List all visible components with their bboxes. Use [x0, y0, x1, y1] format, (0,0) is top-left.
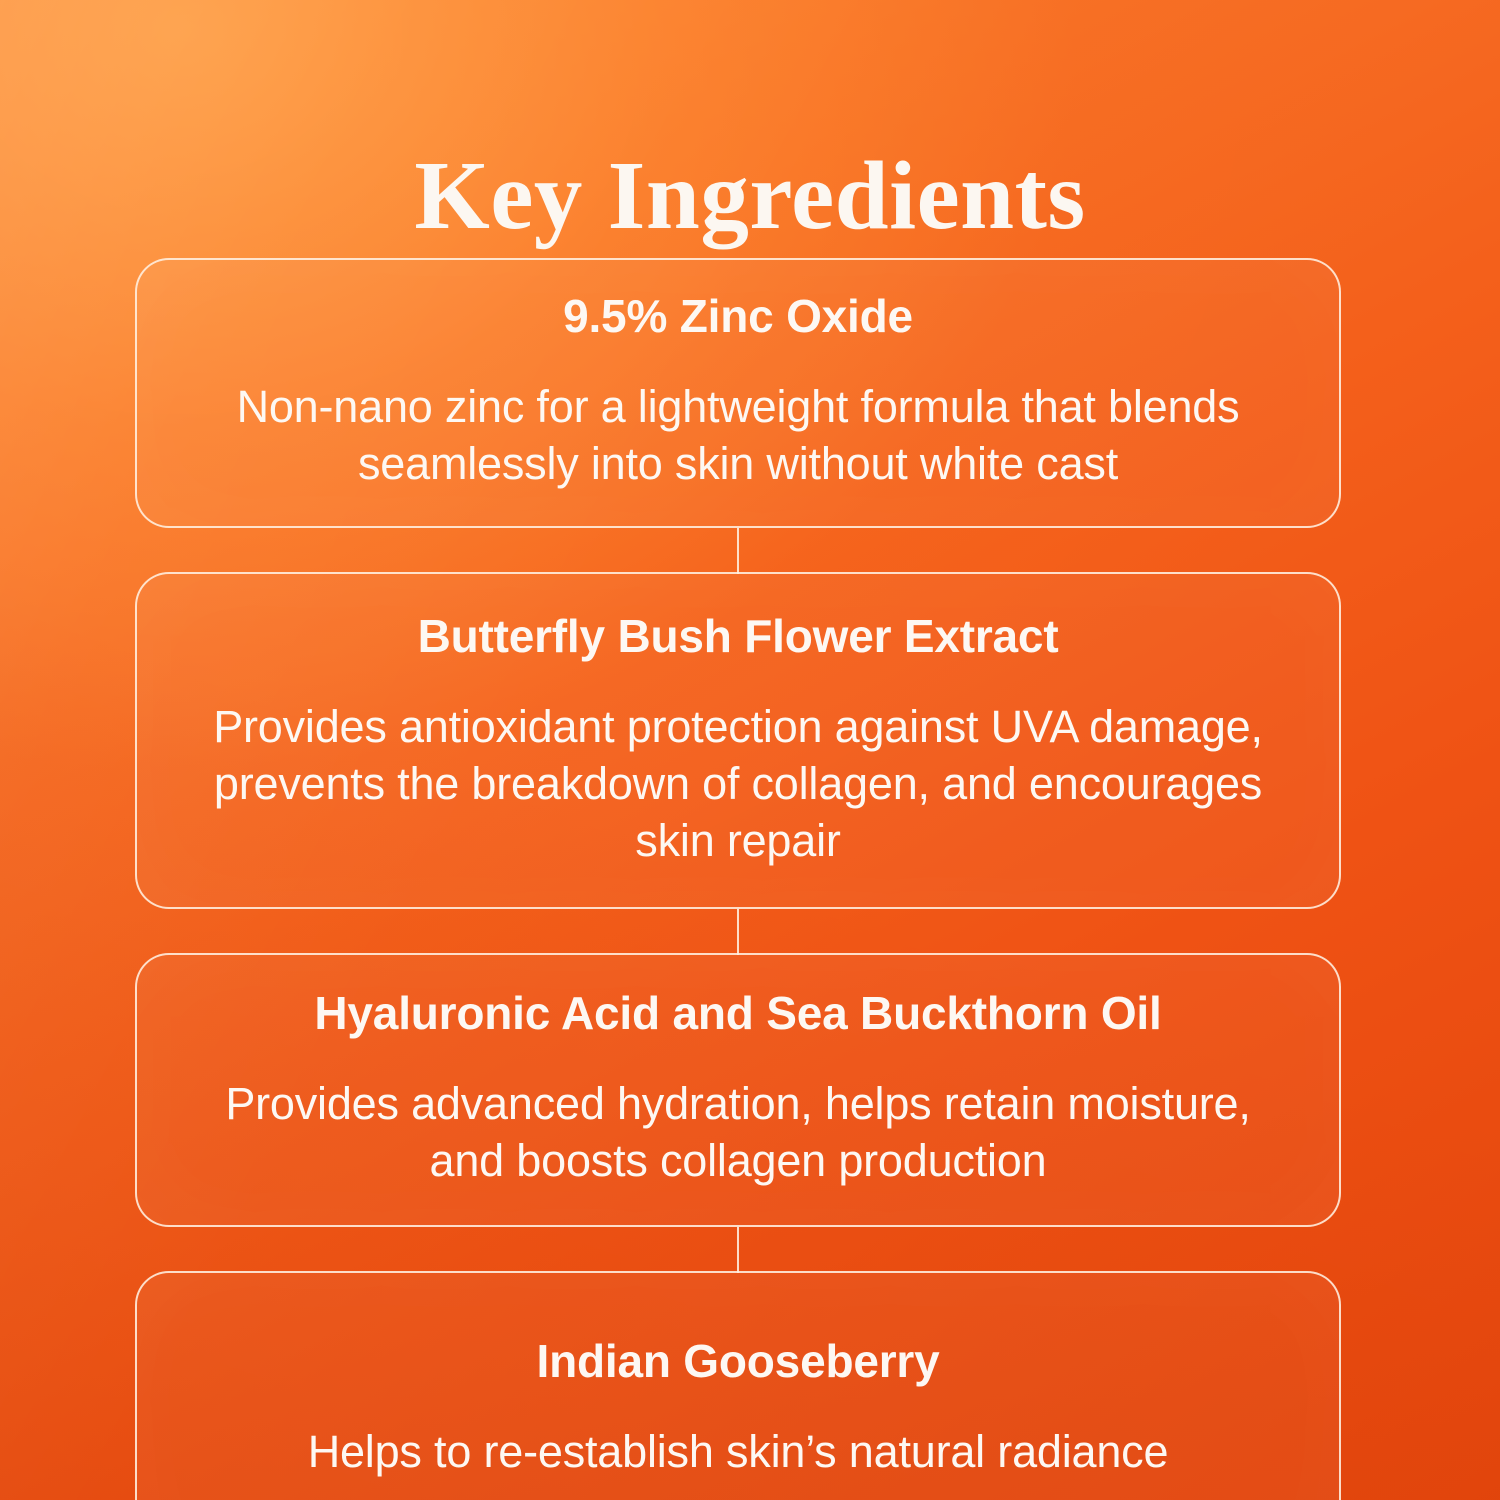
- ingredient-card-hyaluronic-acid-sea-buckthorn-oil: Hyaluronic Acid and Sea Buckthorn Oil Pr…: [135, 953, 1341, 1227]
- ingredient-card-description: Provides advanced hydration, helps retai…: [183, 1075, 1293, 1189]
- page-title: Key Ingredients: [0, 143, 1500, 249]
- ingredient-card-title: Hyaluronic Acid and Sea Buckthorn Oil: [183, 985, 1293, 1041]
- ingredient-card-description: Helps to re-establish skin’s natural rad…: [183, 1423, 1293, 1480]
- ingredient-card-list: 9.5% Zinc Oxide Non-nano zinc for a ligh…: [135, 258, 1341, 1500]
- ingredient-card-title: 9.5% Zinc Oxide: [183, 288, 1293, 344]
- key-ingredients-infographic: Key Ingredients 9.5% Zinc Oxide Non-nano…: [0, 0, 1500, 1500]
- ingredient-card-title: Indian Gooseberry: [183, 1333, 1293, 1389]
- ingredient-card-indian-gooseberry: Indian Gooseberry Helps to re-establish …: [135, 1271, 1341, 1500]
- ingredient-card-butterfly-bush-flower-extract: Butterfly Bush Flower Extract Provides a…: [135, 572, 1341, 909]
- ingredient-card-description: Provides antioxidant protection against …: [183, 698, 1293, 869]
- ingredient-card-description: Non-nano zinc for a lightweight formula …: [183, 378, 1293, 492]
- ingredient-card-zinc-oxide: 9.5% Zinc Oxide Non-nano zinc for a ligh…: [135, 258, 1341, 528]
- ingredient-card-title: Butterfly Bush Flower Extract: [183, 608, 1293, 664]
